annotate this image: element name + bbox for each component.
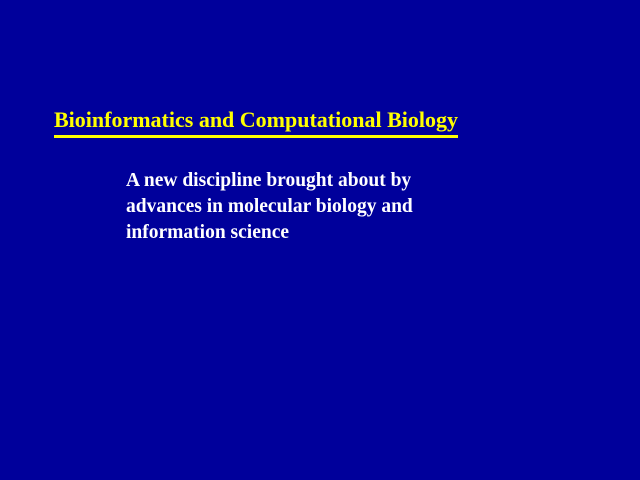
- slide-body: A new discipline brought about by advanc…: [126, 168, 546, 246]
- slide-body-line-3: information science: [126, 220, 546, 246]
- slide-body-line-1: A new discipline brought about by: [126, 168, 546, 194]
- slide-body-line-2: advances in molecular biology and: [126, 194, 546, 220]
- presentation-slide: Bioinformatics and Computational Biology…: [0, 0, 640, 480]
- slide-title-text: Bioinformatics and Computational Biology: [54, 106, 458, 138]
- slide-title: Bioinformatics and Computational Biology: [54, 106, 594, 138]
